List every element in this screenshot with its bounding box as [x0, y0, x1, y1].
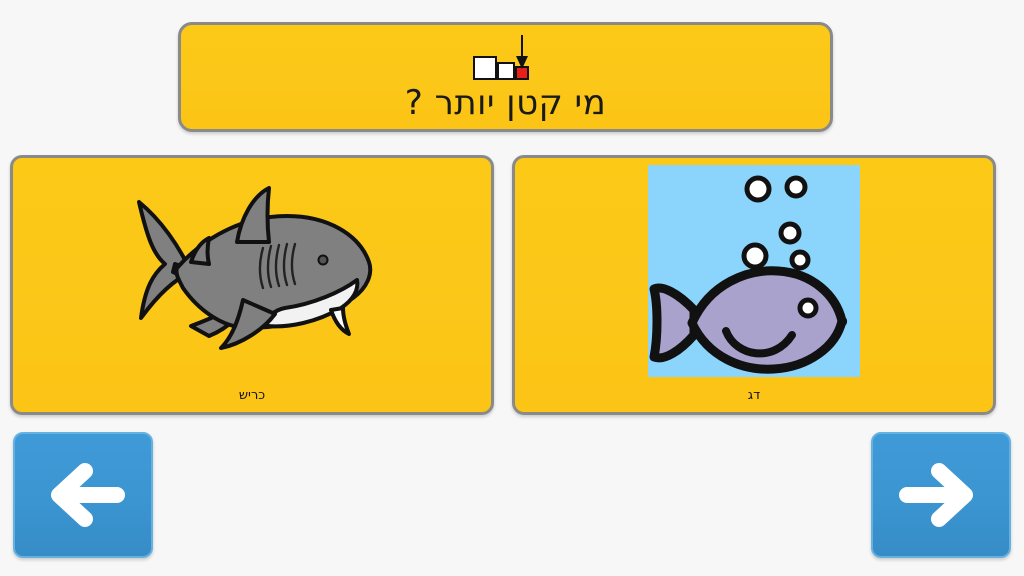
question-banner-inner: מי קטן יותר ?: [181, 25, 830, 129]
question-banner: מי קטן יותר ?: [178, 22, 833, 132]
arrow-left-icon: [37, 459, 129, 531]
choice-card-shark-inner: כריש: [13, 158, 491, 412]
fish-eye: [800, 300, 816, 316]
shark-illustration: [117, 176, 387, 366]
fish-illustration: [648, 165, 860, 377]
choice-card-fish-label: דג: [515, 388, 993, 404]
choice-card-shark[interactable]: כריש: [10, 155, 494, 415]
fish-art-area: [515, 158, 993, 384]
choice-card-fish-inner: דג: [515, 158, 993, 412]
shark-art-area: [13, 158, 491, 384]
size-compare-smallest-icon: [446, 31, 566, 87]
question-text: מי קטן יותר ?: [181, 81, 830, 125]
shark-eye: [319, 256, 328, 265]
next-button[interactable]: [871, 432, 1011, 558]
choice-card-fish[interactable]: דג: [512, 155, 996, 415]
choice-card-shark-label: כריש: [13, 388, 491, 404]
previous-button[interactable]: [13, 432, 153, 558]
arrow-right-icon: [895, 459, 987, 531]
activity-stage: מי קטן יותר ?: [0, 0, 1024, 576]
